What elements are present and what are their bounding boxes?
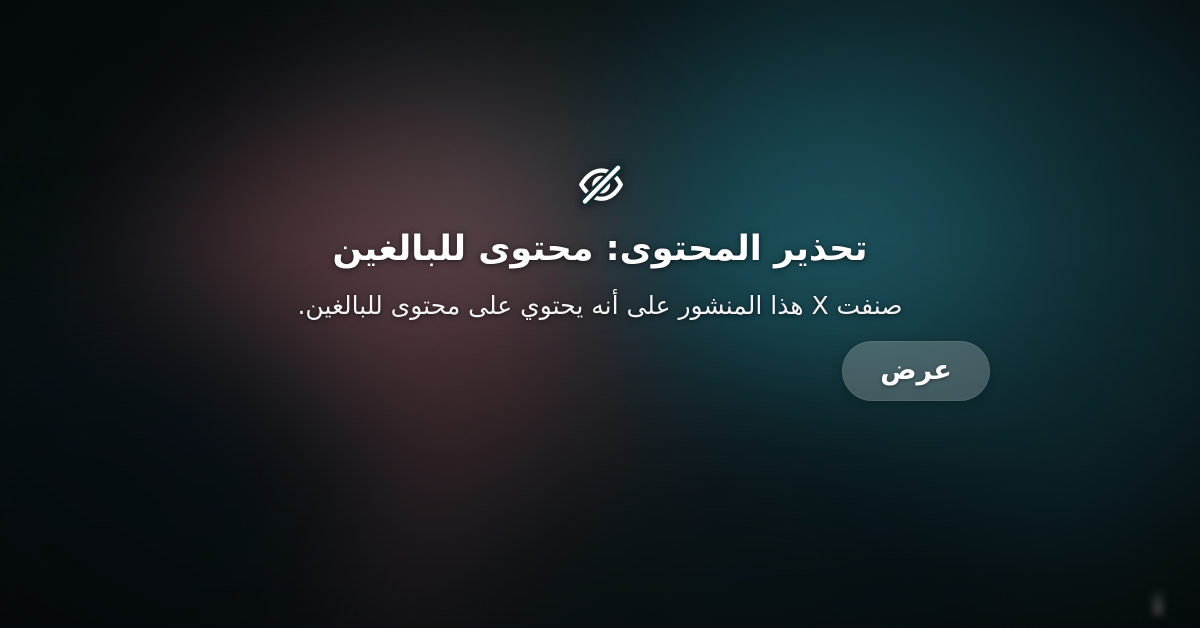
eye-off-icon [571,155,629,213]
content-warning-description: صنفت X هذا المنشور على أنه يحتوي على محت… [210,288,990,324]
content-warning-overlay: تحذير المحتوى: محتوى للبالغين صنفت X هذا… [0,0,1200,628]
view-content-button[interactable]: عرض [842,341,990,401]
content-warning-screen: تحذير المحتوى: محتوى للبالغين صنفت X هذا… [0,0,1200,628]
content-warning-action-row: عرض [210,341,990,401]
content-warning-title: تحذير المحتوى: محتوى للبالغين [210,227,990,272]
content-warning-text-block: تحذير المحتوى: محتوى للبالغين صنفت X هذا… [210,227,990,323]
